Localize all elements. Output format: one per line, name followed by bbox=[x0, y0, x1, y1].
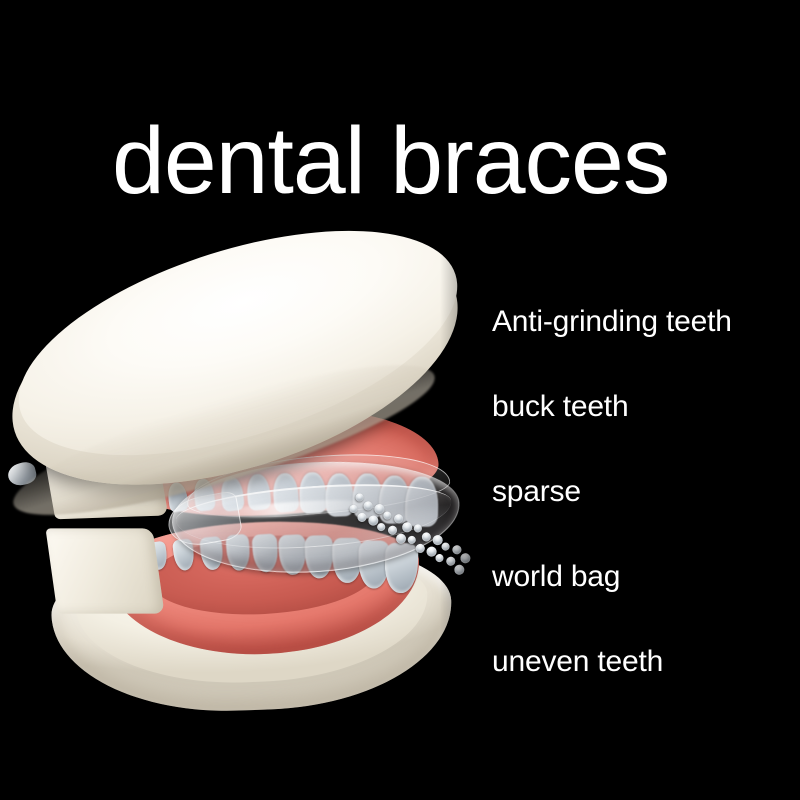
aligner-stud bbox=[414, 542, 426, 554]
aligner-stud bbox=[394, 532, 408, 546]
feature-item-4: uneven teeth bbox=[492, 646, 663, 678]
aligner-stud bbox=[400, 521, 414, 535]
hinge-block-lower bbox=[45, 528, 164, 613]
aligner-stud bbox=[412, 523, 423, 534]
aligner-stud bbox=[440, 541, 451, 552]
feature-item-0: Anti-grinding teeth bbox=[492, 306, 732, 338]
aligner-stud bbox=[356, 511, 368, 523]
aligner-stud bbox=[434, 553, 445, 564]
aligner-stud bbox=[453, 563, 467, 577]
product-banner: dental braces Anti-grinding teeth buck t… bbox=[0, 0, 800, 800]
aligner-stud bbox=[354, 492, 365, 503]
dental-model-image bbox=[0, 250, 500, 720]
aligner-stud bbox=[406, 535, 417, 546]
feature-item-2: sparse bbox=[492, 476, 581, 508]
aligner-stud bbox=[459, 552, 473, 566]
aligner-stud bbox=[376, 522, 387, 533]
feature-item-1: buck teeth bbox=[492, 391, 628, 423]
aligner-stud bbox=[362, 500, 374, 512]
page-title: dental braces bbox=[112, 113, 688, 209]
feature-item-3: world bag bbox=[492, 561, 620, 593]
aligner-stud bbox=[348, 504, 359, 515]
aligner-stud bbox=[420, 531, 432, 543]
aligner-stud bbox=[382, 510, 393, 521]
